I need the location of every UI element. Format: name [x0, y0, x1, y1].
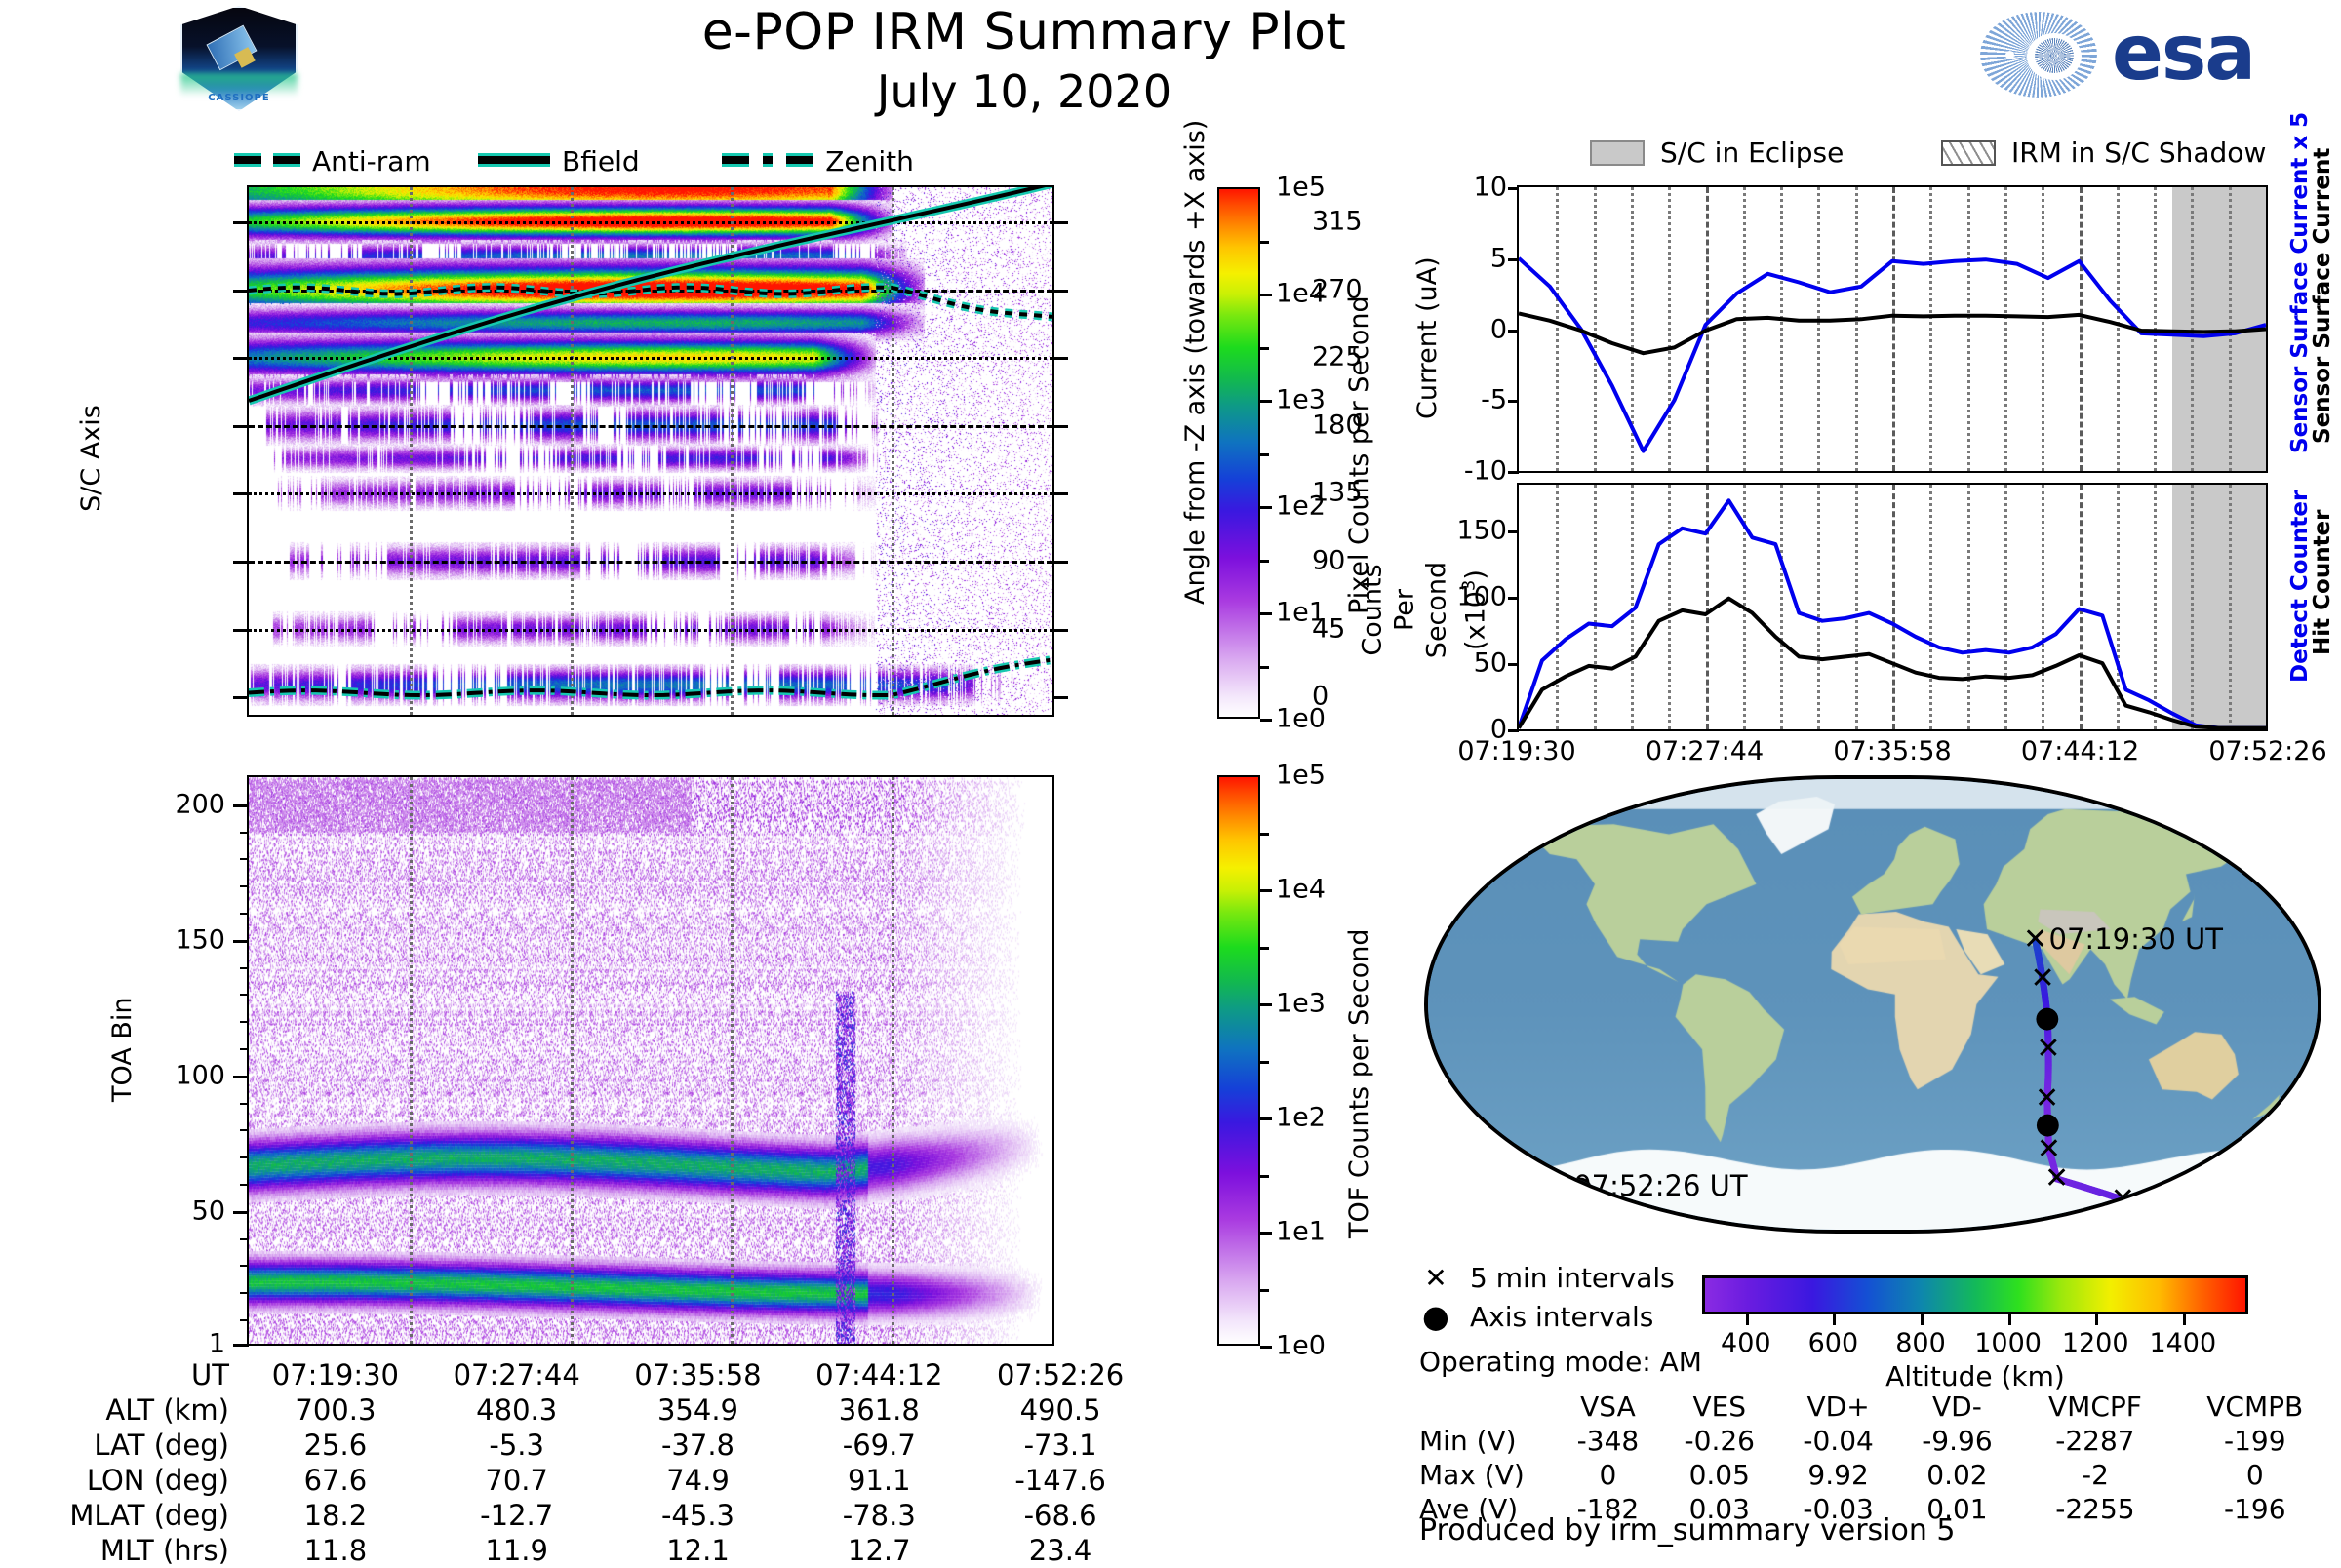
voltage-cell: -348 — [1556, 1424, 1660, 1458]
toa-ytick-2: 100 — [175, 1060, 225, 1090]
table-row: Min (V)-348-0.26-0.04-9.96-2287-199 — [1419, 1424, 2336, 1458]
ephem-cell: 12.1 — [608, 1533, 789, 1568]
voltage-column-header: VMCPF — [2016, 1390, 2173, 1424]
toa-colorbar-label: TOF Counts per Second — [1344, 929, 1374, 1239]
esa-logo: esa — [1980, 8, 2321, 101]
anti-ram-line-swatch-icon — [234, 152, 300, 171]
toa-ytick-4: 1 — [209, 1329, 225, 1359]
ephem-row-header: UT — [59, 1357, 245, 1392]
colorbar-tick-1e2: 1e2 — [1276, 1103, 1326, 1133]
voltage-summary-table: VSAVESVD+VD-VMCPFVCMPBMin (V)-348-0.26-0… — [1419, 1390, 2336, 1526]
time-tick-2: 07:35:58 — [1833, 736, 1951, 766]
ephem-cell: 07:27:44 — [426, 1357, 608, 1392]
ephem-cell: 74.9 — [608, 1463, 789, 1498]
current-right-label-black: Sensor Surface Current — [2310, 148, 2335, 444]
sensor-current-panel: -10-50510 — [1517, 185, 2268, 473]
altitude-tick-1400: 1400 — [2149, 1328, 2216, 1358]
voltage-cell: -196 — [2174, 1492, 2336, 1526]
five-min-marker: ✕ — [2044, 1164, 2069, 1194]
voltage-cell: 0 — [2174, 1458, 2336, 1492]
table-row: MLT (hrs)11.811.912.112.723.4 — [59, 1533, 1151, 1568]
ephem-row-header: MLAT (deg) — [59, 1498, 245, 1533]
ephem-cell: -12.7 — [426, 1498, 608, 1533]
colorbar-tick-1e1: 1e1 — [1276, 598, 1326, 628]
pixel-right-ytick-5: 90 — [1312, 546, 1345, 576]
counts-series-lines — [1519, 485, 2266, 729]
ephem-cell: 11.9 — [426, 1533, 608, 1568]
colorbar-tick-1e3: 1e3 — [1276, 385, 1326, 415]
colorbar-tick-1e2: 1e2 — [1276, 491, 1326, 522]
eclipse-swatch-icon — [1590, 140, 1645, 166]
pixel-counts-colorbar-ticks: 1e51e41e31e21e11e0 — [1217, 187, 1260, 719]
table-row: UT07:19:3007:27:4407:35:5807:44:1207:52:… — [59, 1357, 1151, 1392]
pixel-counts-overlay-curves — [249, 187, 1052, 715]
time-tick-1: 07:27:44 — [1646, 736, 1764, 766]
ephem-cell: 354.9 — [608, 1392, 789, 1428]
voltage-cell: -9.96 — [1898, 1424, 2017, 1458]
table-row: Max (V)00.059.920.02-20 — [1419, 1458, 2336, 1492]
current-ylabel: Current (uA) — [1412, 256, 1443, 419]
toa-ytick-3: 50 — [192, 1196, 225, 1226]
axis-interval-marker: ● — [2035, 1003, 2060, 1033]
cassiope-mission-logo: CASSIOPE — [180, 6, 298, 111]
ephem-cell: -5.3 — [426, 1428, 608, 1463]
voltage-cell: 9.92 — [1779, 1458, 1898, 1492]
legend-label-anti-ram: Anti-ram — [312, 145, 431, 177]
ephem-row-header: LAT (deg) — [59, 1428, 245, 1463]
ephem-cell: 490.5 — [970, 1392, 1151, 1428]
ephem-cell: 11.8 — [245, 1533, 426, 1568]
voltage-cell: 0 — [1556, 1458, 1660, 1492]
ytick-label: -10 — [1464, 456, 1507, 487]
cross-marker-icon: ✕ — [1419, 1262, 1452, 1294]
voltage-cell: -0.04 — [1779, 1424, 1898, 1458]
ephem-cell: 91.1 — [788, 1463, 970, 1498]
colorbar-tick-1e4: 1e4 — [1276, 279, 1326, 309]
zenith-line-swatch-icon — [722, 152, 813, 171]
ground-track-map: ✕✕●✕✕●✕✕✕●07:19:30 UT07:52:26 UT● — [1424, 775, 2321, 1234]
ytick-label: 0 — [1490, 314, 1507, 344]
ephemeris-table: UT07:19:3007:27:4407:35:5807:44:1207:52:… — [59, 1357, 1151, 1568]
pixel-counts-right-ylabel: Angle from -Z axis (towards +X axis) — [1180, 120, 1210, 605]
time-tick-0: 07:19:30 — [1457, 736, 1575, 766]
operating-mode-label: Operating mode: AM — [1419, 1346, 1702, 1378]
ephem-cell: 700.3 — [245, 1392, 426, 1428]
colorbar-tick-1e4: 1e4 — [1276, 875, 1326, 905]
ephem-cell: 23.4 — [970, 1533, 1151, 1568]
spectrogram-legend: Anti-ram Bfield Zenith — [234, 144, 936, 177]
voltage-cell: 0.02 — [1898, 1458, 2017, 1492]
ephem-cell: 07:44:12 — [788, 1357, 970, 1392]
legend-label-zenith: Zenith — [825, 145, 914, 177]
colorbar-tick-1e1: 1e1 — [1276, 1217, 1326, 1247]
ytick-label: -5 — [1481, 385, 1507, 415]
altitude-tick-1200: 1200 — [2062, 1328, 2129, 1358]
ephem-cell: -68.6 — [970, 1498, 1151, 1533]
counts-time-axis-labels: 07:19:3007:27:4407:35:5807:44:1207:52:26 — [1517, 736, 2268, 769]
ephem-row-header: MLT (hrs) — [59, 1533, 245, 1568]
legend-label-axis: Axis intervals — [1470, 1301, 1653, 1333]
voltage-row-header: Min (V) — [1419, 1424, 1556, 1458]
voltage-cell: -2287 — [2016, 1424, 2173, 1458]
legend-label-eclipse: S/C in Eclipse — [1660, 137, 1844, 169]
dot-marker-icon: ● — [1419, 1298, 1452, 1335]
voltage-cell: 0.05 — [1660, 1458, 1779, 1492]
ephem-cell: 18.2 — [245, 1498, 426, 1533]
table-row: ALT (km)700.3480.3354.9361.8490.5 — [59, 1392, 1151, 1428]
toa-bin-spectrogram: 200150100501 — [247, 775, 1054, 1346]
voltage-column-header: VES — [1660, 1390, 1779, 1424]
toa-ytick-0: 200 — [175, 789, 225, 819]
shadow-swatch-icon — [1941, 140, 1996, 166]
counts-per-second-panel: 050100150 — [1517, 483, 2268, 731]
page-title: e-POP IRM Summary Plot — [488, 2, 1561, 62]
legend-label-bfield: Bfield — [562, 145, 640, 177]
ephem-cell: 25.6 — [245, 1428, 426, 1463]
ephem-row-header: ALT (km) — [59, 1392, 245, 1428]
altitude-tick-400: 400 — [1721, 1328, 1771, 1358]
current-series-lines — [1519, 187, 2266, 471]
ephem-cell: -45.3 — [608, 1498, 789, 1533]
ephem-cell: -37.8 — [608, 1428, 789, 1463]
esa-logo-text: esa — [2112, 12, 2254, 96]
ytick-label: 150 — [1456, 516, 1507, 546]
counts-ylabel: Counts PerSecond (x103) — [1357, 547, 1492, 674]
colorbar-tick-1e5: 1e5 — [1276, 173, 1326, 203]
produced-by-footer: Produced by irm_summary version 5 — [1419, 1513, 1955, 1548]
counts-right-label-black: Hit Counter — [2310, 510, 2335, 656]
axis-interval-marker: ● — [1545, 1170, 1570, 1199]
voltage-cell: -2 — [2016, 1458, 2173, 1492]
altitude-tick-1000: 1000 — [1974, 1328, 2042, 1358]
world-map-globe: ✕✕●✕✕●✕✕✕●07:19:30 UT07:52:26 UT● — [1424, 775, 2321, 1234]
altitude-tick-800: 800 — [1895, 1328, 1946, 1358]
cassiope-logo-label: CASSIOPE — [180, 93, 298, 103]
shade-legend: S/C in Eclipse IRM in S/C Shadow — [1531, 137, 2312, 172]
ephem-cell: 07:35:58 — [608, 1357, 789, 1392]
pixel-right-ytick-0: 315 — [1312, 206, 1363, 236]
ephem-cell: 07:19:30 — [245, 1357, 426, 1392]
five-min-marker: ✕ — [2023, 925, 2047, 955]
altitude-colorbar-label: Altitude (km) — [1702, 1360, 2248, 1392]
ytick-label: 5 — [1490, 243, 1507, 273]
ephem-cell: 361.8 — [788, 1392, 970, 1428]
orbit-track — [1428, 779, 2318, 1230]
table-row: LAT (deg)25.6-5.3-37.8-69.7-73.1 — [59, 1428, 1151, 1463]
ephem-cell: -78.3 — [788, 1498, 970, 1533]
table-row: LON (deg)67.670.774.991.1-147.6 — [59, 1463, 1151, 1498]
table-row: MLAT (deg)18.2-12.7-45.3-78.3-68.6 — [59, 1498, 1151, 1533]
ytick-label: 10 — [1474, 173, 1507, 203]
legend-label-5min: 5 min intervals — [1470, 1262, 1675, 1294]
map-start-time-label: 07:19:30 UT — [2049, 922, 2223, 956]
pixel-counts-spectrogram: -X/-Z-X+Z/-X+Z+X/+Z+X-Z/+X-Z 31527022518… — [247, 185, 1054, 717]
table-header-row: VSAVESVD+VD-VMCPFVCMPB — [1419, 1390, 2336, 1424]
five-min-marker: ✕ — [2037, 1135, 2061, 1164]
five-min-marker: ✕ — [2030, 964, 2054, 994]
bfield-line-swatch-icon — [478, 152, 550, 171]
voltage-cell: -2255 — [2016, 1492, 2173, 1526]
voltage-column-header: VD- — [1898, 1390, 2017, 1424]
voltage-column-header: VCMPB — [2174, 1390, 2336, 1424]
colorbar-tick-1e3: 1e3 — [1276, 989, 1326, 1019]
page-subtitle: July 10, 2020 — [488, 64, 1561, 119]
voltage-column-header: VD+ — [1779, 1390, 1898, 1424]
five-min-marker: ✕ — [2111, 1185, 2135, 1214]
map-end-time-label: 07:52:26 UT — [1573, 1169, 1747, 1202]
voltage-cell: -0.26 — [1660, 1424, 1779, 1458]
ephem-cell: 70.7 — [426, 1463, 608, 1498]
colorbar-tick-1e5: 1e5 — [1276, 761, 1326, 791]
ephem-cell: -69.7 — [788, 1428, 970, 1463]
voltage-column-header: VSA — [1556, 1390, 1660, 1424]
toa-ytick-1: 150 — [175, 924, 225, 955]
pixel-counts-ylabel: S/C Axis — [76, 405, 106, 512]
ephem-cell: 12.7 — [788, 1533, 970, 1568]
ephem-cell: 07:52:26 — [970, 1357, 1151, 1392]
ephem-cell: -73.1 — [970, 1428, 1151, 1463]
time-tick-3: 07:44:12 — [2021, 736, 2139, 766]
toa-colorbar-ticks: 1e51e41e31e21e11e0 — [1217, 775, 1260, 1346]
altitude-colorbar-ticks: 400600800100012001400 — [1702, 1275, 2248, 1373]
ephem-cell: 480.3 — [426, 1392, 608, 1428]
toa-ylabel: TOA Bin — [107, 998, 138, 1102]
altitude-tick-600: 600 — [1808, 1328, 1859, 1358]
legend-label-shadow: IRM in S/C Shadow — [2011, 137, 2266, 169]
colorbar-tick-1e0: 1e0 — [1276, 704, 1326, 734]
ephem-row-header: LON (deg) — [59, 1463, 245, 1498]
ephem-cell: -147.6 — [970, 1463, 1151, 1498]
voltage-row-header: Max (V) — [1419, 1458, 1556, 1492]
time-tick-4: 07:52:26 — [2208, 736, 2326, 766]
five-min-marker: ✕ — [2036, 1035, 2060, 1064]
ephem-cell: 67.6 — [245, 1463, 426, 1498]
voltage-cell: -199 — [2174, 1424, 2336, 1458]
colorbar-tick-1e0: 1e0 — [1276, 1331, 1326, 1361]
